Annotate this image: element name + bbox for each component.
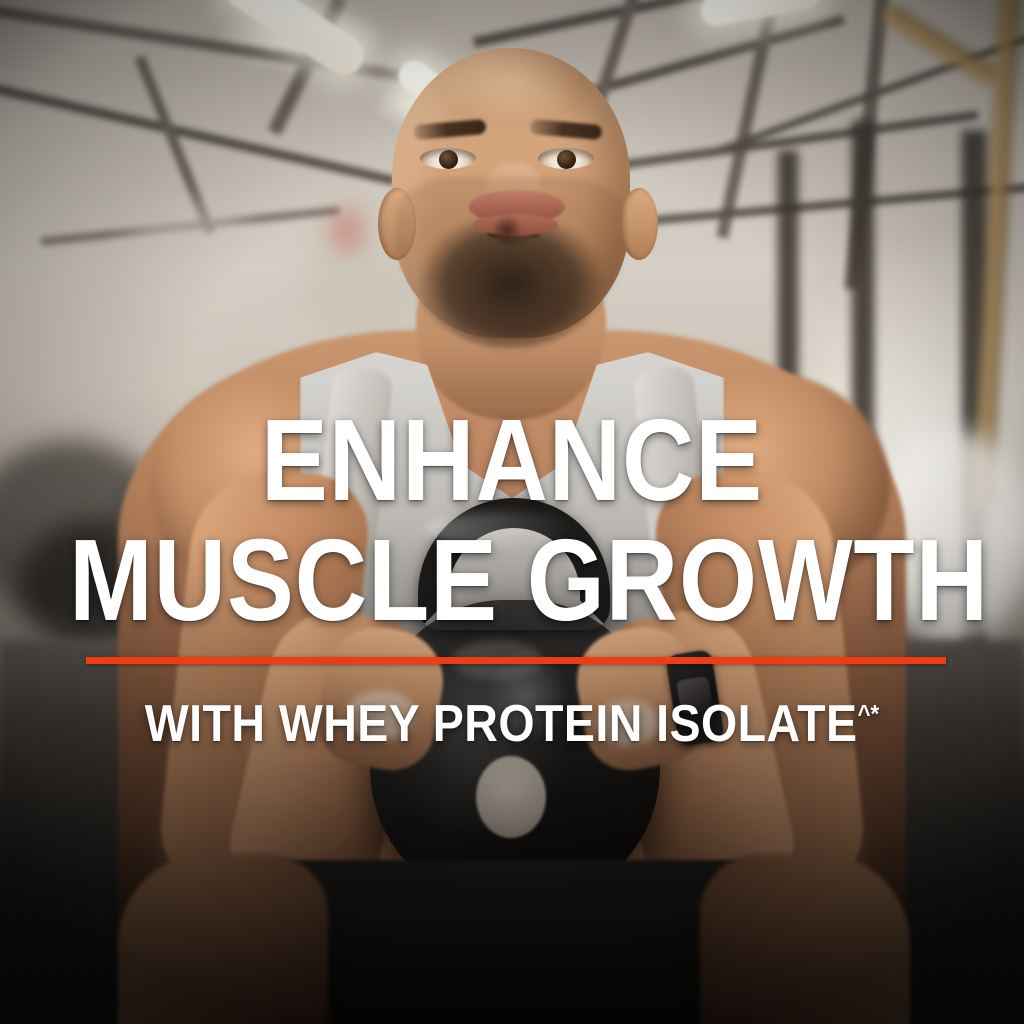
headline-line-1: ENHANCE bbox=[69, 404, 955, 517]
kettlebell-weight-marking bbox=[476, 756, 546, 838]
right-eye bbox=[538, 148, 594, 169]
right-thigh bbox=[700, 854, 910, 1024]
subheadline-superscript: ^* bbox=[857, 701, 879, 729]
chin-shadow bbox=[492, 215, 522, 245]
subheadline: WITH WHEY PROTEIN ISOLATE^* bbox=[54, 698, 970, 750]
subheadline-text: WITH WHEY PROTEIN ISOLATE bbox=[145, 695, 858, 753]
red-divider-rule bbox=[86, 657, 946, 664]
left-eye bbox=[420, 148, 476, 169]
headline-line-2: MUSCLE GROWTH bbox=[69, 524, 955, 637]
left-thigh bbox=[118, 854, 328, 1024]
promotional-poster: ENHANCE MUSCLE GROWTH WITH WHEY PROTEIN … bbox=[0, 0, 1024, 1024]
